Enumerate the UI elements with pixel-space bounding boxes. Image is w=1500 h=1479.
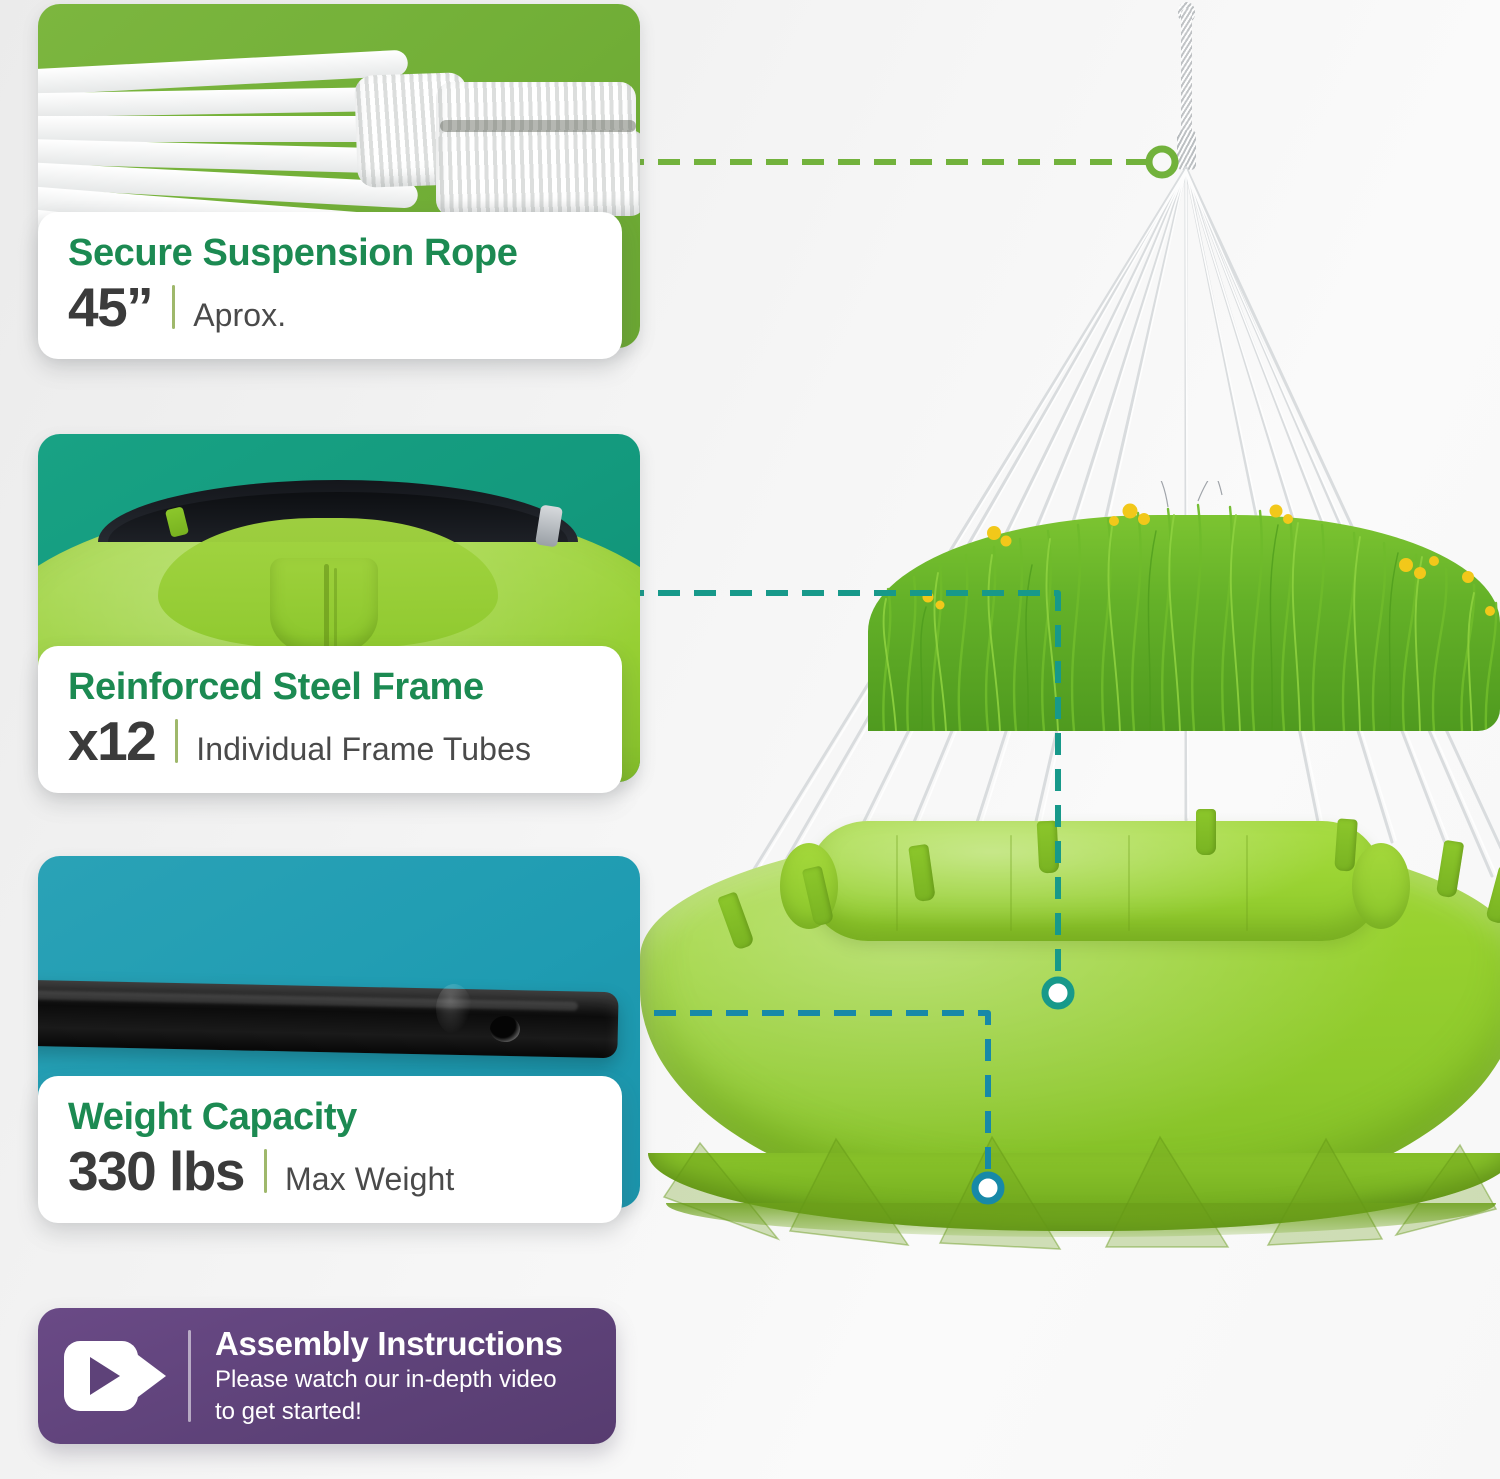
metric-divider [175, 719, 178, 763]
banner-divider [188, 1330, 191, 1422]
grass-flowers [923, 504, 1496, 617]
info-card-steel-frame: Reinforced Steel Frame x12 Individual Fr… [38, 646, 622, 793]
banner-subtitle-line2: to get started! [215, 1397, 563, 1426]
feature-title: Weight Capacity [68, 1098, 596, 1138]
banner-text: Assembly Instructions Please watch our i… [215, 1326, 563, 1427]
feature-sub: Individual Frame Tubes [196, 731, 531, 768]
feature-metric: x12 Individual Frame Tubes [68, 714, 596, 769]
infographic-root: Secure Suspension Rope 45” Aprox. Reinfo… [0, 0, 1500, 1479]
feature-title: Secure Suspension Rope [68, 234, 596, 274]
metric-divider [264, 1149, 267, 1193]
video-camera-icon [64, 1335, 170, 1417]
feature-value: 45” [68, 280, 152, 335]
assembly-instructions-banner[interactable]: Assembly Instructions Please watch our i… [38, 1308, 616, 1444]
product-scene [620, 0, 1500, 1479]
info-card-suspension-rope: Secure Suspension Rope 45” Aprox. [38, 212, 622, 359]
rope-tab [1436, 840, 1465, 898]
rope-tab [1196, 809, 1216, 855]
banner-subtitle-line1: Please watch our in-depth video [215, 1365, 563, 1394]
feature-value: x12 [68, 714, 155, 769]
pillow-end-right [1352, 843, 1410, 929]
feature-metric: 330 lbs Max Weight [68, 1144, 596, 1199]
hammock-bed [640, 805, 1500, 1255]
grass-foreground [868, 481, 1500, 731]
feature-sub: Max Weight [285, 1161, 454, 1198]
rope-tab [1334, 818, 1358, 871]
suspension-ropes [620, 0, 1500, 1479]
bolster-pillow [810, 821, 1380, 941]
feature-title: Reinforced Steel Frame [68, 668, 596, 708]
rope-tab [1037, 821, 1060, 874]
feature-value: 330 lbs [68, 1144, 244, 1199]
feature-metric: 45” Aprox. [68, 280, 596, 335]
skirt-tension-panels [640, 1135, 1500, 1255]
metric-divider [172, 285, 175, 329]
rope-tab [1485, 865, 1500, 924]
banner-title: Assembly Instructions [215, 1326, 563, 1362]
grass-blades [868, 481, 1500, 731]
feature-sub: Aprox. [193, 297, 286, 334]
info-card-weight-capacity: Weight Capacity 330 lbs Max Weight [38, 1076, 622, 1223]
